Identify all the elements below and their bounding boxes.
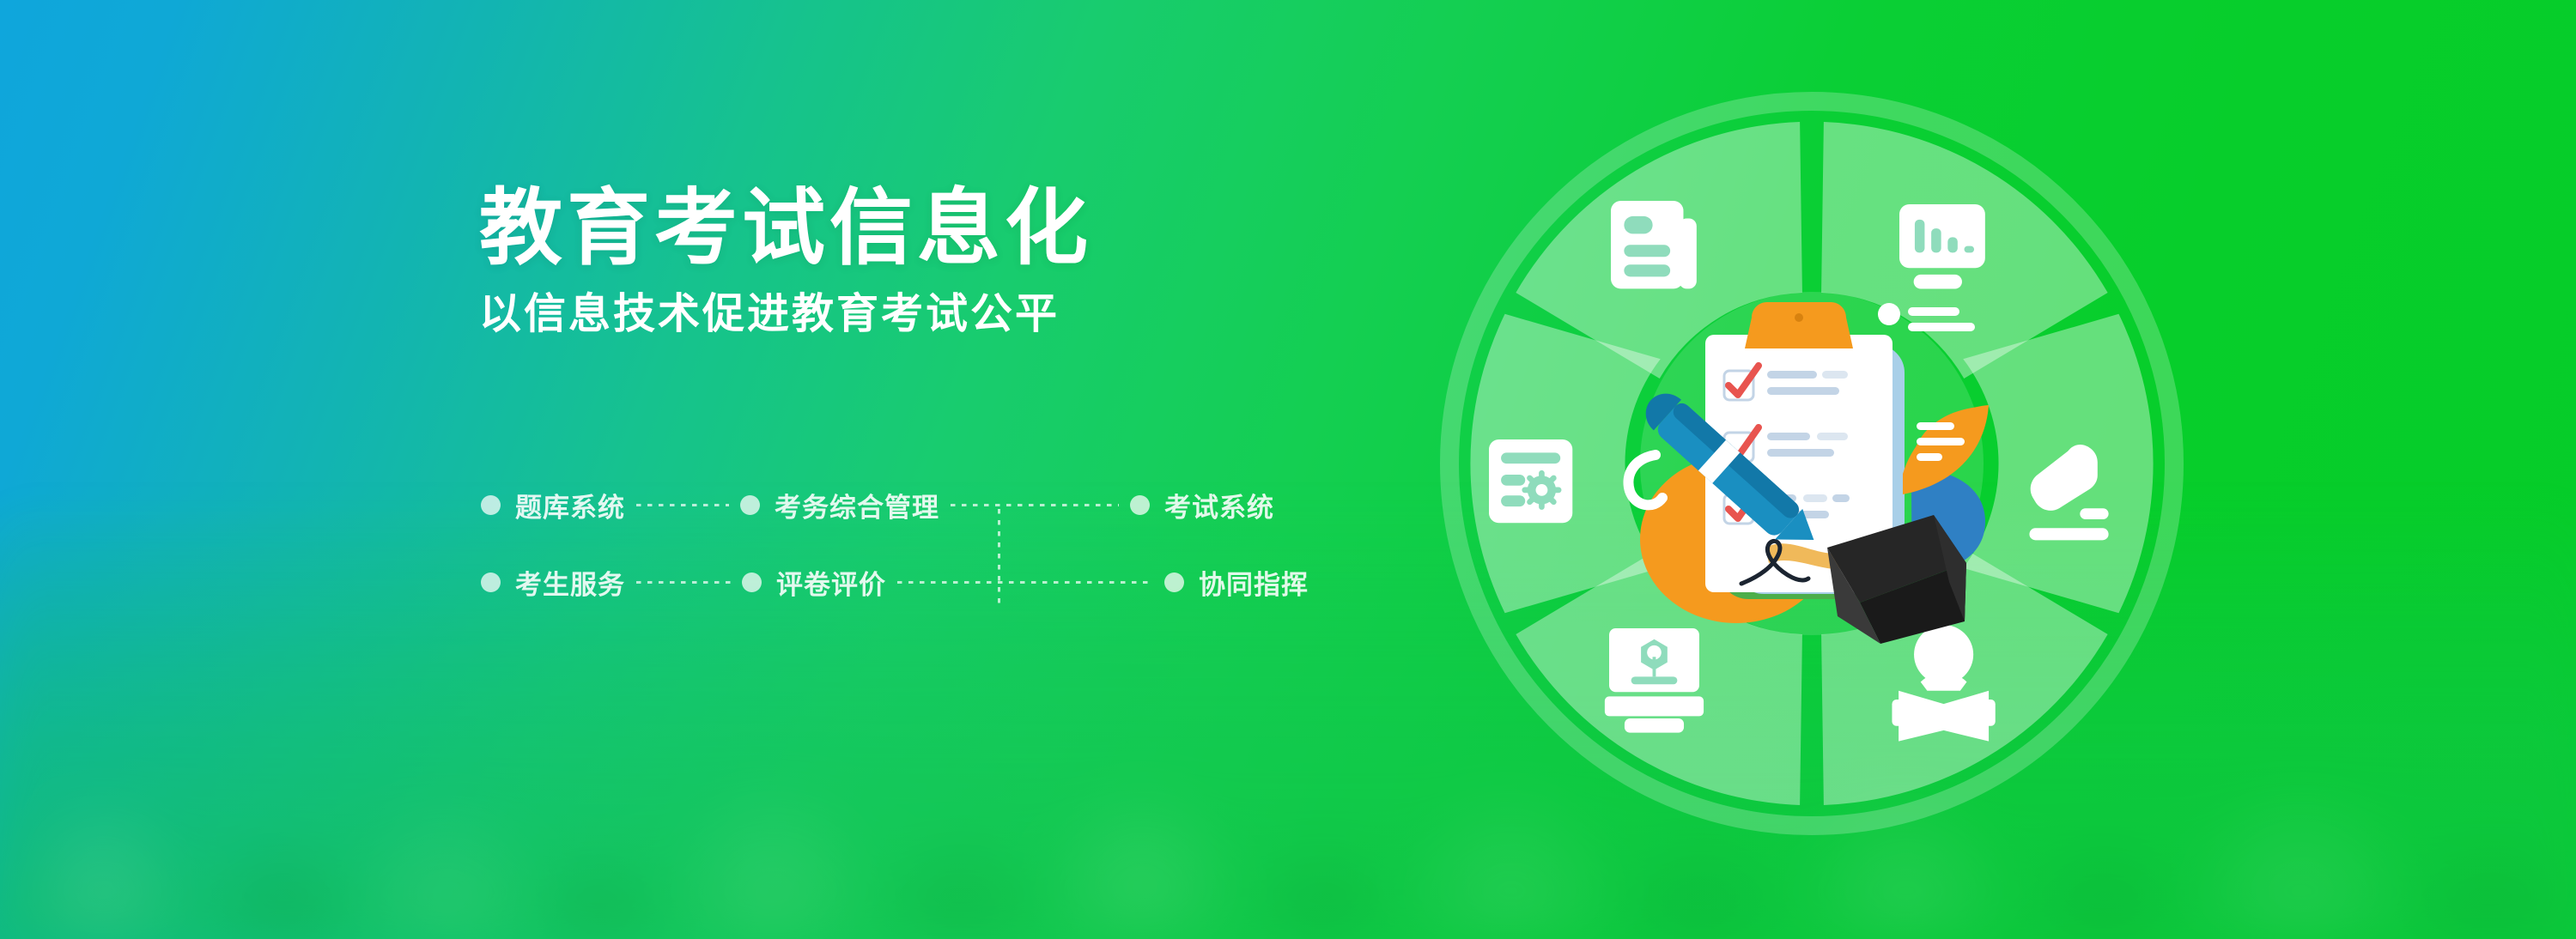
page-title: 教育考试信息化 (479, 185, 1092, 273)
bullet-dot-icon (481, 572, 501, 592)
feature-label: 考生服务 (515, 563, 625, 602)
bullet-dot-icon (740, 495, 760, 515)
exam-informatization-wheel (1400, 51, 2224, 875)
settings-panel-gear-icon (1489, 439, 1572, 523)
feature-item-xietong[interactable]: 协同指挥 (1164, 563, 1309, 602)
feature-item-kaosheng[interactable]: 考生服务 (481, 563, 625, 602)
dotted-connector (636, 504, 729, 506)
bullet-dot-icon (1130, 495, 1150, 515)
dotted-connector-vertical (998, 509, 1000, 603)
feature-item-kaowu[interactable]: 考务综合管理 (740, 486, 939, 524)
feature-item-kaoshi[interactable]: 考试系统 (1130, 486, 1274, 524)
feature-item-tiku[interactable]: 题库系统 (481, 486, 625, 524)
feature-label: 协同指挥 (1199, 563, 1309, 602)
feature-item-pingjuan[interactable]: 评卷评价 (742, 563, 886, 602)
dotted-connector (897, 581, 1153, 584)
bullet-dot-icon (481, 495, 501, 515)
feature-row-2: 考生服务 评卷评价 协同指挥 (481, 562, 1309, 602)
page-subtitle: 以信息技术促进教育考试公平 (479, 290, 1092, 338)
hero-text-block: 教育考试信息化 以信息技术促进教育考试公平 (479, 185, 1092, 338)
hero-banner: 教育考试信息化 以信息技术促进教育考试公平 题库系统 考务综合管理 考试系统 (0, 0, 2576, 939)
dotted-connector (951, 504, 1119, 506)
bullet-dot-icon (742, 572, 762, 592)
feature-list: 题库系统 考务综合管理 考试系统 考生服务 评卷评价 (481, 485, 1309, 602)
feature-label: 考务综合管理 (775, 486, 939, 524)
feature-label: 考试系统 (1164, 486, 1274, 524)
dotted-connector (636, 581, 731, 584)
bullet-dot-icon (1164, 572, 1184, 592)
feature-label: 题库系统 (515, 486, 625, 524)
feature-label: 评卷评价 (776, 563, 886, 602)
feature-row-1: 题库系统 考务综合管理 考试系统 (481, 485, 1309, 524)
